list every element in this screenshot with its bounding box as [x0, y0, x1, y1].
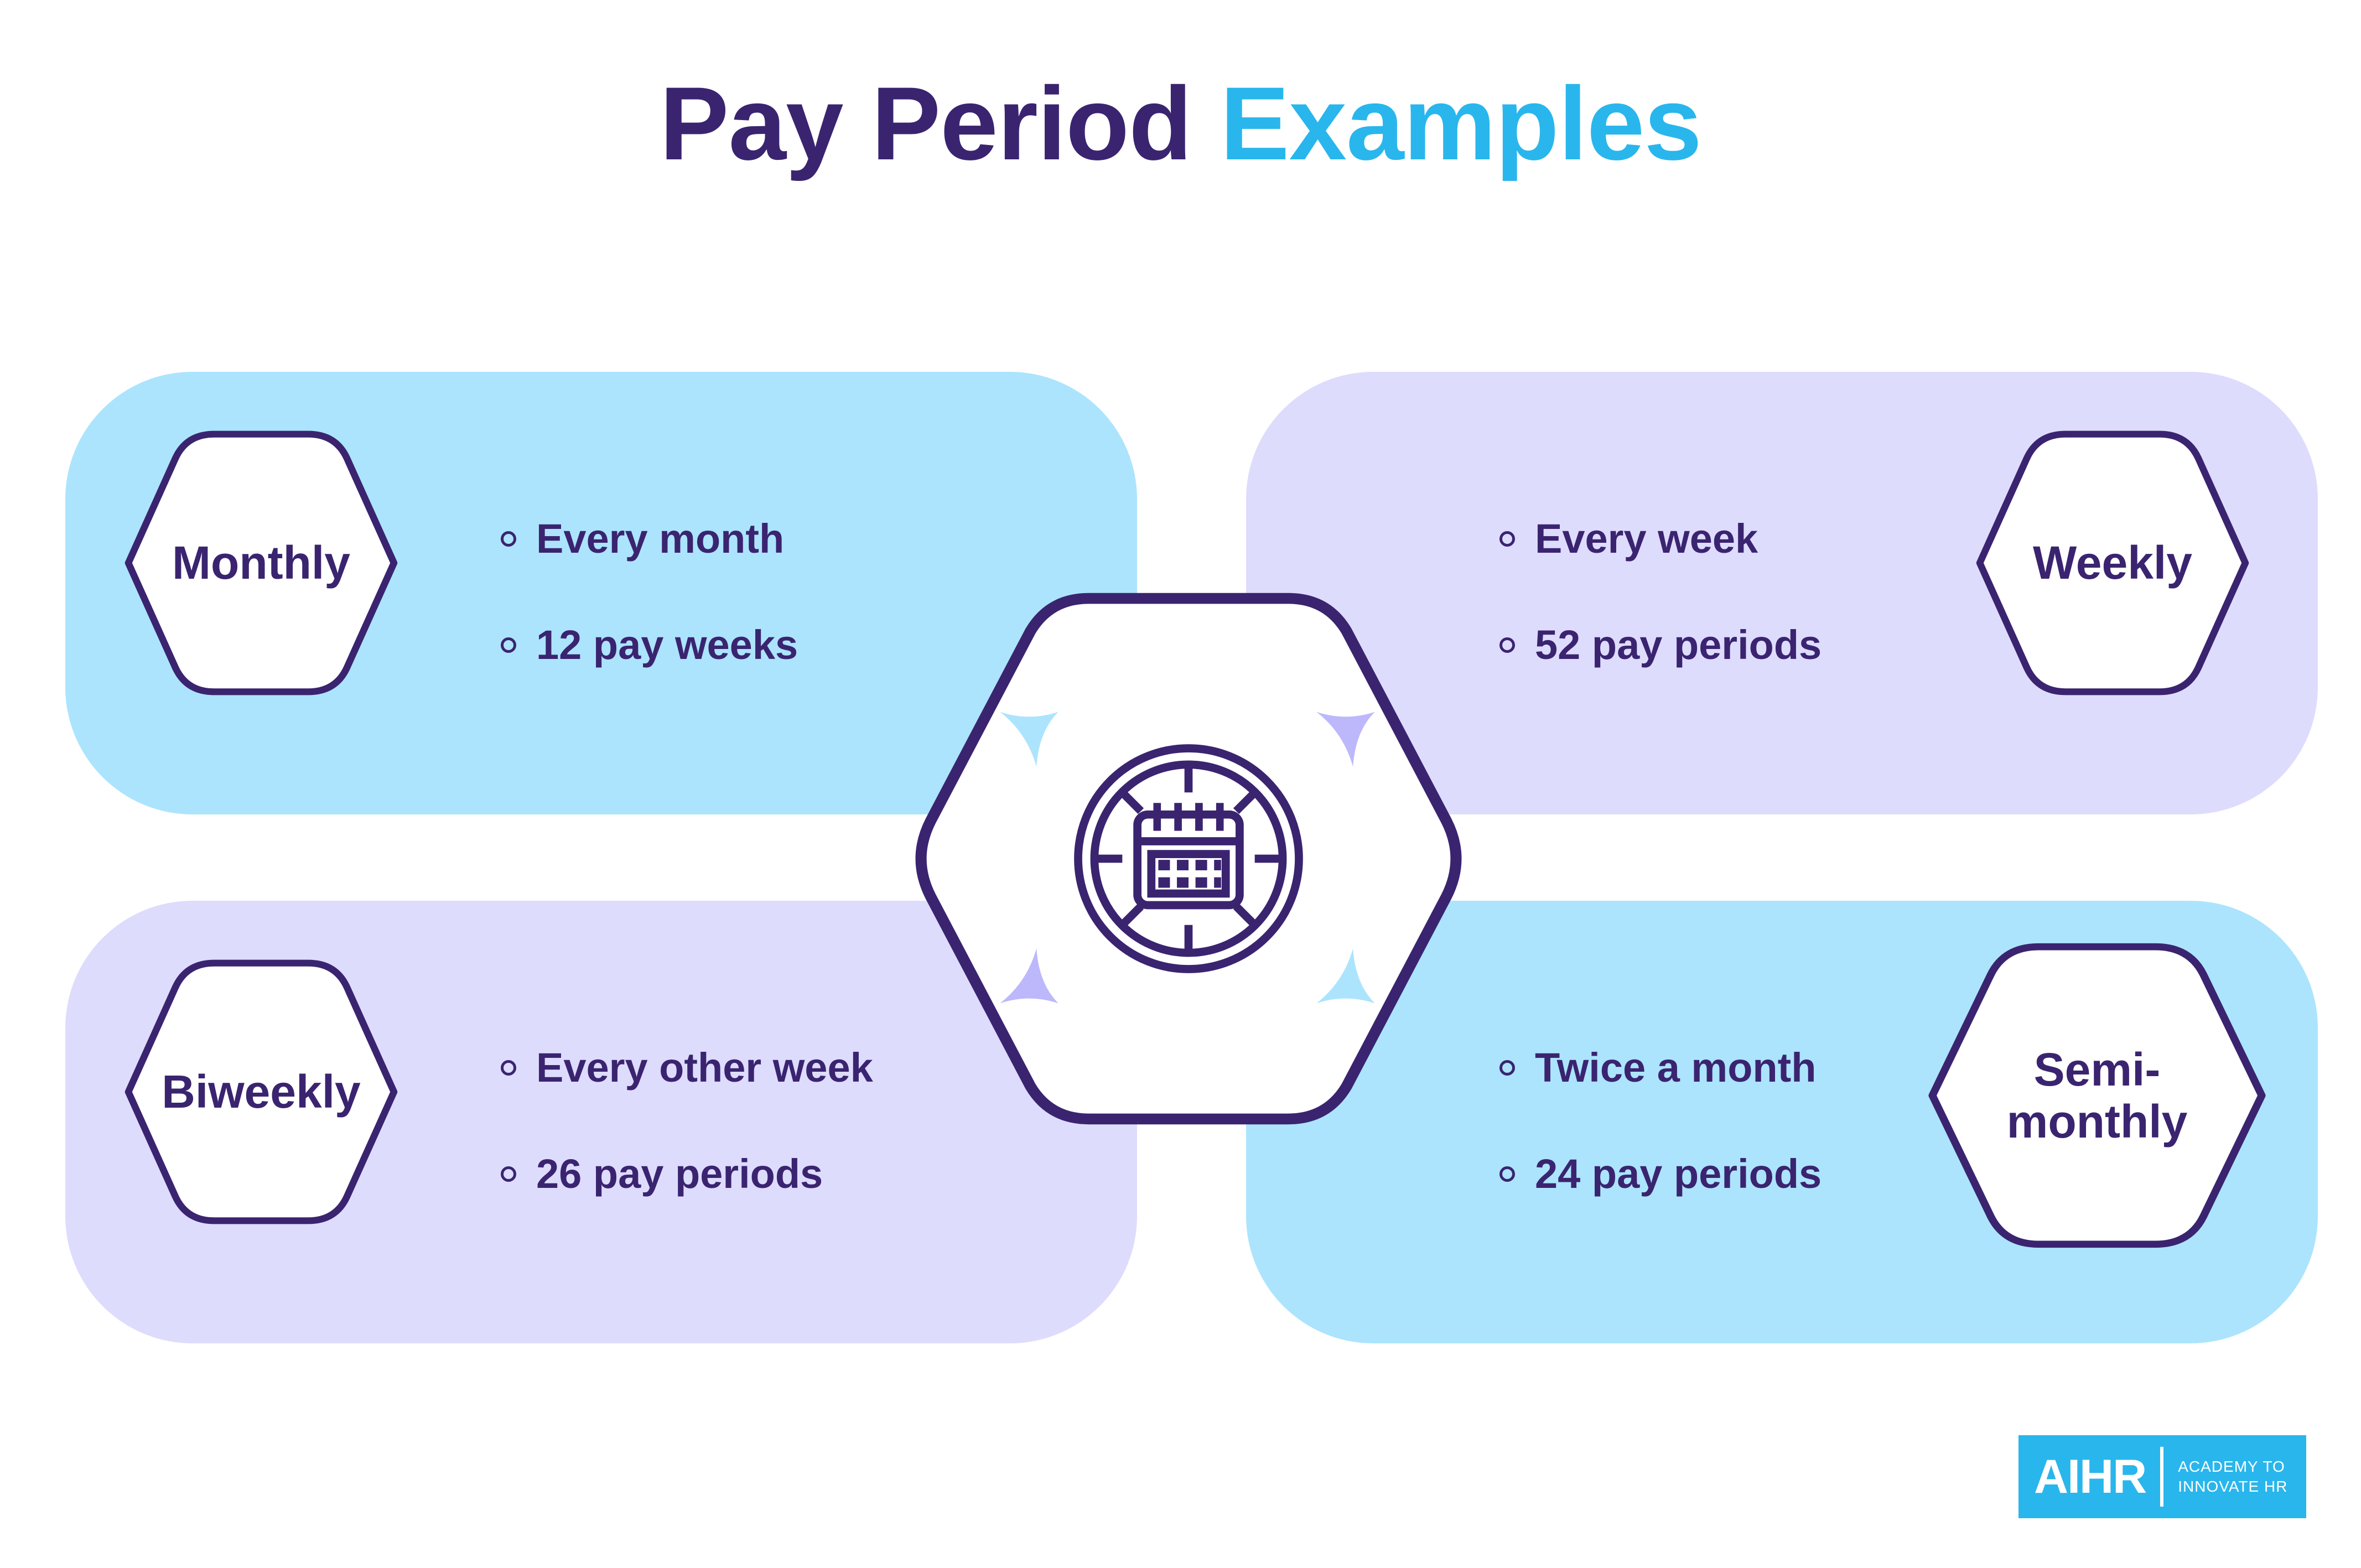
page-title-accent: Examples	[1220, 65, 1701, 181]
list-item: 26 pay periods	[501, 1154, 873, 1195]
logo-tagline-line2: INNOVATE HR	[2178, 1478, 2287, 1495]
bullet-label: Every month	[536, 518, 784, 559]
bullet-label: 24 pay periods	[1535, 1154, 1822, 1195]
bullet-circle-icon	[1499, 531, 1515, 547]
bullets-semi-monthly: Twice a month 24 pay periods	[1499, 1010, 1822, 1232]
list-item: 12 pay weeks	[501, 625, 798, 666]
bullets-monthly: Every month 12 pay weeks	[501, 481, 798, 703]
bullet-circle-icon	[501, 637, 516, 653]
calendar-target-icon	[1072, 743, 1305, 975]
hexagon-label-line1: Semi-	[2034, 1043, 2161, 1095]
sparkle-icon	[1315, 946, 1376, 1007]
bullets-biweekly: Every other week 26 pay periods	[501, 1010, 873, 1232]
bullet-label: Every week	[1535, 518, 1758, 559]
logo-tagline-line1: ACADEMY TO	[2178, 1458, 2285, 1475]
list-item: Twice a month	[1499, 1047, 1822, 1088]
aihr-logo[interactable]: AIHR ACADEMY TO INNOVATE HR	[2018, 1435, 2306, 1518]
page-title: Pay Period Examples	[0, 66, 2361, 181]
hexagon-label-text: Biweekly	[148, 1066, 374, 1118]
page-title-primary: Pay Period	[660, 65, 1220, 181]
hexagon-label-text: Weekly	[2020, 537, 2206, 589]
bullet-circle-icon	[1499, 1166, 1515, 1182]
sparkle-icon	[1315, 708, 1376, 769]
list-item: Every week	[1499, 518, 1822, 559]
logo-divider	[2160, 1447, 2163, 1507]
hexagon-label-weekly: Weekly	[1974, 429, 2251, 697]
bullet-label: Twice a month	[1535, 1047, 1816, 1088]
bullet-label: Every other week	[536, 1047, 873, 1088]
bullet-circle-icon	[501, 531, 516, 547]
list-item: 24 pay periods	[1499, 1154, 1822, 1195]
hexagon-label-line2: monthly	[2007, 1095, 2188, 1148]
logo-wordmark: AIHR	[2034, 1453, 2146, 1500]
list-item: Every other week	[501, 1047, 873, 1088]
list-item: 52 pay periods	[1499, 625, 1822, 666]
hexagon-label-text: Monthly	[159, 537, 364, 589]
hexagon-label-monthly: Monthly	[123, 429, 399, 697]
bullet-label: 52 pay periods	[1535, 625, 1822, 666]
bullets-weekly: Every week 52 pay periods	[1499, 481, 1822, 703]
list-item: Every month	[501, 518, 798, 559]
sparkle-icon	[999, 708, 1060, 769]
hexagon-label-text: Semi- monthly	[1994, 1043, 2201, 1148]
sparkle-icon	[999, 946, 1060, 1007]
bullet-circle-icon	[1499, 637, 1515, 653]
center-hexagon	[906, 588, 1471, 1130]
hexagon-label-biweekly: Biweekly	[123, 958, 399, 1226]
logo-tagline: ACADEMY TO INNOVATE HR	[2178, 1457, 2287, 1497]
bullet-label: 26 pay periods	[536, 1154, 823, 1195]
bullet-circle-icon	[501, 1060, 516, 1076]
hexagon-label-semi-monthly: Semi- monthly	[1926, 941, 2269, 1250]
bullet-label: 12 pay weeks	[536, 625, 798, 666]
calendar-glyph	[1138, 803, 1240, 905]
bullet-circle-icon	[1499, 1060, 1515, 1076]
bullet-circle-icon	[501, 1166, 516, 1182]
